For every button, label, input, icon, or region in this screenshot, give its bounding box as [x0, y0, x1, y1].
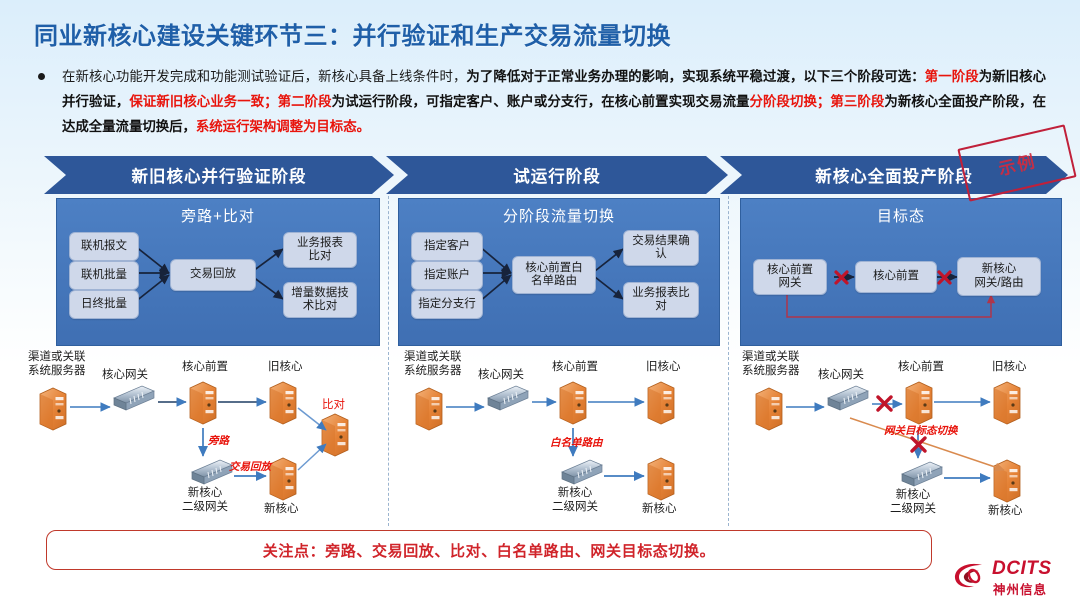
para-seg-3: 第一阶段: [925, 69, 979, 84]
diagram-3-oldcore-label: 旧核心: [992, 360, 1027, 374]
bullet-paragraph-block: 在新核心功能开发完成和功能测试验证后，新核心具备上线条件时，为了降低对于正常业务…: [36, 64, 1046, 139]
slide-root: 同业新核心建设关键环节三：并行验证和生产交易流量切换 在新核心功能开发完成和功能…: [0, 0, 1080, 608]
diagram-1-subgateway-label: 新核心 二级网关: [182, 486, 228, 514]
phase-banner-2: 试运行阶段: [386, 156, 728, 194]
diagram-2-gateway-label: 核心网关: [478, 368, 524, 382]
diagram-3-newcore-label: 新核心: [988, 504, 1023, 518]
panel-3-node-1: 核心前置 网关: [753, 259, 827, 295]
para-seg-9: 第三阶段: [830, 94, 884, 109]
phase-panel-3: 目标态 核心前置 网关 核心前置 新核心 网关/路由: [740, 198, 1062, 346]
company-logo: DCITS 神州信息: [952, 556, 1070, 602]
diagram-1-frontend-label: 核心前置: [182, 360, 228, 374]
panel-2-center: 核心前置白 名单路由: [512, 256, 596, 294]
panel-3-node-2: 核心前置: [855, 261, 937, 293]
panel-1-center: 交易回放: [170, 259, 256, 291]
diagram-2-route-label: 白名单路由: [550, 436, 603, 450]
diagram-2-newcore-label: 新核心: [642, 502, 677, 516]
panel-1-input-2: 联机批量: [69, 261, 139, 290]
flow-diagram-3: 渠道或关联 系统服务器 核心网关 核心前置 旧核心 网关目标态切换 新核心 二级…: [732, 352, 1072, 530]
para-seg-7: 为试运行阶段，可指定客户、账户或分支行，在核心前置实现交易流量: [332, 94, 750, 109]
diagram-2-oldcore-label: 旧核心: [646, 360, 681, 374]
para-seg-2: 为了降低对于正常业务办理的影响，实现系统平稳过渡，以下三个阶段可选：: [466, 69, 924, 84]
dcits-swirl-icon: [952, 560, 988, 592]
flow-diagram-2: 渠道或关联 系统服务器 核心网关 核心前置 旧核心 白名单路由 新核心 二级网关…: [392, 352, 732, 530]
panel-1-output-2: 增量数据技 术比对: [283, 282, 357, 318]
para-seg-5: 保证新旧核心业务一致；: [129, 94, 277, 109]
diagram-3-frontend-label: 核心前置: [898, 360, 944, 374]
flow-diagram-1: 渠道或关联 系统服务器 核心网关 核心前置 旧核心 比对 旁路 新核心 二级网关…: [22, 352, 362, 530]
para-seg-6: 第二阶段: [278, 94, 332, 109]
key-points-text: 关注点：旁路、交易回放、比对、白名单路由、网关目标态切换。: [263, 540, 715, 561]
diagram-3-source-label: 渠道或关联 系统服务器: [742, 350, 800, 378]
diagram-1-gateway-label: 核心网关: [102, 368, 148, 382]
panel-2-input-1: 指定客户: [411, 232, 483, 261]
para-seg-11: 系统运行架构调整为目标态。: [196, 119, 370, 134]
phase-banner-1: 新旧核心并行验证阶段: [44, 156, 394, 194]
diagram-1-source-label: 渠道或关联 系统服务器: [28, 350, 86, 378]
diagram-2-frontend-label: 核心前置: [552, 360, 598, 374]
diagram-1-oldcore-label: 旧核心: [268, 360, 303, 374]
logo-text-cn: 神州信息: [993, 579, 1047, 598]
key-points-box: 关注点：旁路、交易回放、比对、白名单路由、网关目标态切换。: [46, 530, 932, 570]
diagram-1-bypass-label: 旁路: [208, 434, 229, 448]
phase-panel-1: 旁路+比对 联机报文 联机批量 日终批量 交易回放 业务报表 比对 增量数据技 …: [56, 198, 380, 346]
phase-banner-3: 新核心全面投产阶段: [720, 156, 1068, 194]
intro-paragraph: 在新核心功能开发完成和功能测试验证后，新核心具备上线条件时，为了降低对于正常业务…: [62, 64, 1046, 139]
panel-2-input-3: 指定分支行: [411, 290, 483, 319]
diagram-2-source-label: 渠道或关联 系统服务器: [404, 350, 462, 378]
panel-2-output-1: 交易结果确 认: [623, 230, 699, 266]
panel-2-output-2: 业务报表比 对: [623, 282, 699, 318]
diagram-1-replay-label: 交易回放: [229, 460, 271, 474]
para-seg-1: 在新核心功能开发完成和功能测试验证后，新核心具备上线条件时，: [62, 69, 466, 84]
diagram-1-newcore-label: 新核心: [264, 502, 299, 516]
diagram-1-compare-label: 比对: [322, 398, 345, 412]
panel-1-input-1: 联机报文: [69, 232, 139, 261]
panel-1-input-3: 日终批量: [69, 290, 139, 319]
diagram-3-subgateway-label: 新核心 二级网关: [890, 488, 936, 516]
diagram-3-switch-label: 网关目标态切换: [884, 424, 958, 438]
panel-1-output-1: 业务报表 比对: [283, 232, 357, 268]
phase-panel-2: 分阶段流量切换 指定客户 指定账户 指定分支行 核心前置白 名单路由 交易结果确…: [398, 198, 720, 346]
panel-2-input-2: 指定账户: [411, 261, 483, 290]
bullet-dot-icon: [38, 73, 45, 80]
diagram-3-gateway-label: 核心网关: [818, 368, 864, 382]
page-title: 同业新核心建设关键环节三：并行验证和生产交易流量切换: [34, 16, 671, 51]
column-separator-1: [388, 196, 389, 526]
logo-text-en: DCITS: [992, 558, 1052, 580]
para-seg-8: 分阶段切换；: [750, 94, 831, 109]
diagram-2-subgateway-label: 新核心 二级网关: [552, 486, 598, 514]
panel-3-node-3: 新核心 网关/路由: [957, 257, 1041, 296]
